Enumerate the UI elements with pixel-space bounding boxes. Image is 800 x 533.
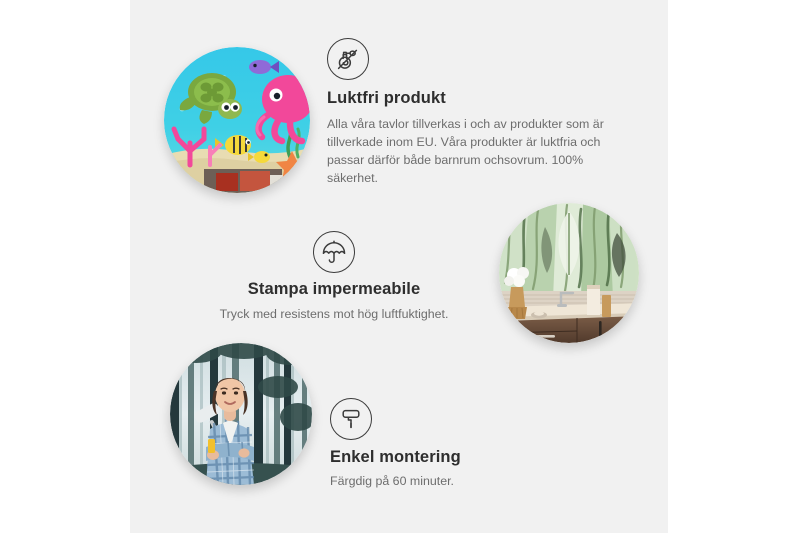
underwater-scene-photo: [164, 47, 310, 193]
feature-description: Tryck med resistens mot hög luftfuktighe…: [200, 305, 468, 323]
bathroom-vanity-photo: [499, 203, 639, 343]
umbrella-icon: [313, 231, 355, 273]
paint-roller-icon: [330, 398, 372, 440]
feature-title: Enkel montering: [330, 448, 610, 468]
feature-description: Färgdig på 60 minuter.: [330, 472, 610, 490]
feature-waterproof: Stampa impermeabile Tryck med resistens …: [200, 231, 468, 323]
woman-with-paint-roller-photo: [170, 343, 312, 485]
feature-title: Stampa impermeabile: [200, 280, 468, 300]
product-benefits-page: Luktfri produkt Alla våra tavlor tillver…: [0, 0, 800, 533]
no-fragrance-icon: [327, 38, 369, 80]
feature-description: Alla våra tavlor tillverkas i och av pro…: [327, 115, 627, 187]
feature-odourless: Luktfri produkt Alla våra tavlor tillver…: [327, 38, 627, 187]
feature-title: Luktfri produkt: [327, 89, 627, 109]
feature-easy-assembly: Enkel montering Färgdig på 60 minuter.: [330, 398, 610, 490]
